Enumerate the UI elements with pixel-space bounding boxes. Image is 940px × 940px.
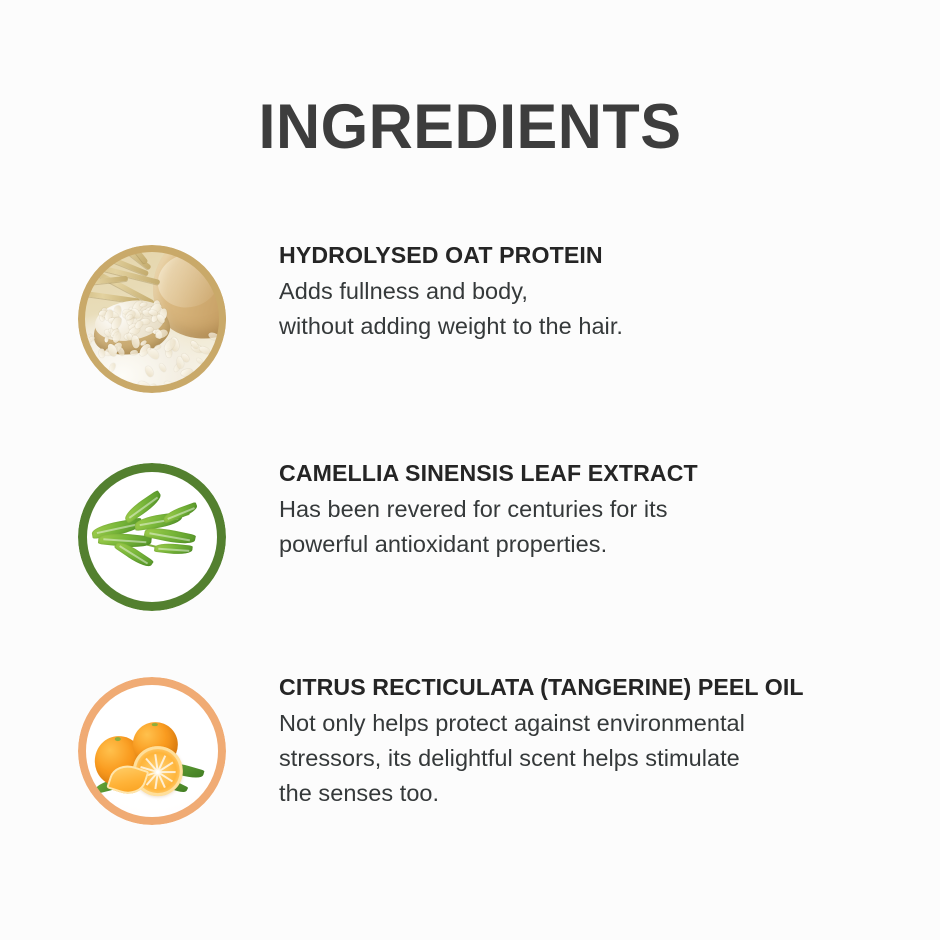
oat-flakes-scatter bbox=[78, 319, 226, 393]
tangerine-group bbox=[93, 717, 211, 803]
tea-leaf-cluster bbox=[88, 496, 215, 582]
ingredient-item-tangerine-peel-oil: CITRUS RECTICULATA (TANGERINE) PEEL OIL … bbox=[0, 672, 940, 832]
green-tea-leaves-icon bbox=[78, 463, 226, 611]
ingredient-copy: CAMELLIA SINENSIS LEAF EXTRACT Has been … bbox=[279, 458, 919, 562]
oats-illustration bbox=[78, 245, 226, 393]
ingredient-description: Not only helps protect against environme… bbox=[279, 706, 919, 811]
ingredient-copy: CITRUS RECTICULATA (TANGERINE) PEEL OIL … bbox=[279, 672, 919, 811]
ingredient-name: CITRUS RECTICULATA (TANGERINE) PEEL OIL bbox=[279, 672, 909, 702]
description-line: Adds fullness and body, bbox=[279, 274, 919, 309]
ingredient-item-oat-protein: HYDROLYSED OAT PROTEIN Adds fullness and… bbox=[0, 240, 940, 400]
ingredient-item-camellia-sinensis: CAMELLIA SINENSIS LEAF EXTRACT Has been … bbox=[0, 458, 940, 618]
tea-leaves-illustration bbox=[78, 463, 226, 611]
description-line: without adding weight to the hair. bbox=[279, 309, 919, 344]
ingredient-name: HYDROLYSED OAT PROTEIN bbox=[279, 240, 909, 270]
tangerines-illustration bbox=[78, 677, 226, 825]
description-line: powerful antioxidant properties. bbox=[279, 527, 919, 562]
ingredient-copy: HYDROLYSED OAT PROTEIN Adds fullness and… bbox=[279, 240, 919, 344]
tangerines-icon bbox=[78, 677, 226, 825]
description-line: the senses too. bbox=[279, 776, 919, 811]
description-line: Not only helps protect against environme… bbox=[279, 706, 919, 741]
description-line: Has been revered for centuries for its bbox=[279, 492, 919, 527]
description-line: stressors, its delightful scent helps st… bbox=[279, 741, 919, 776]
ingredient-name: CAMELLIA SINENSIS LEAF EXTRACT bbox=[279, 458, 909, 488]
ingredients-infographic: INGREDIENTS bbox=[0, 0, 940, 940]
oats-bowl-icon bbox=[78, 245, 226, 393]
ingredient-description: Adds fullness and body, without adding w… bbox=[279, 274, 919, 344]
ingredient-description: Has been revered for centuries for its p… bbox=[279, 492, 919, 562]
page-title: INGREDIENTS bbox=[14, 92, 926, 162]
